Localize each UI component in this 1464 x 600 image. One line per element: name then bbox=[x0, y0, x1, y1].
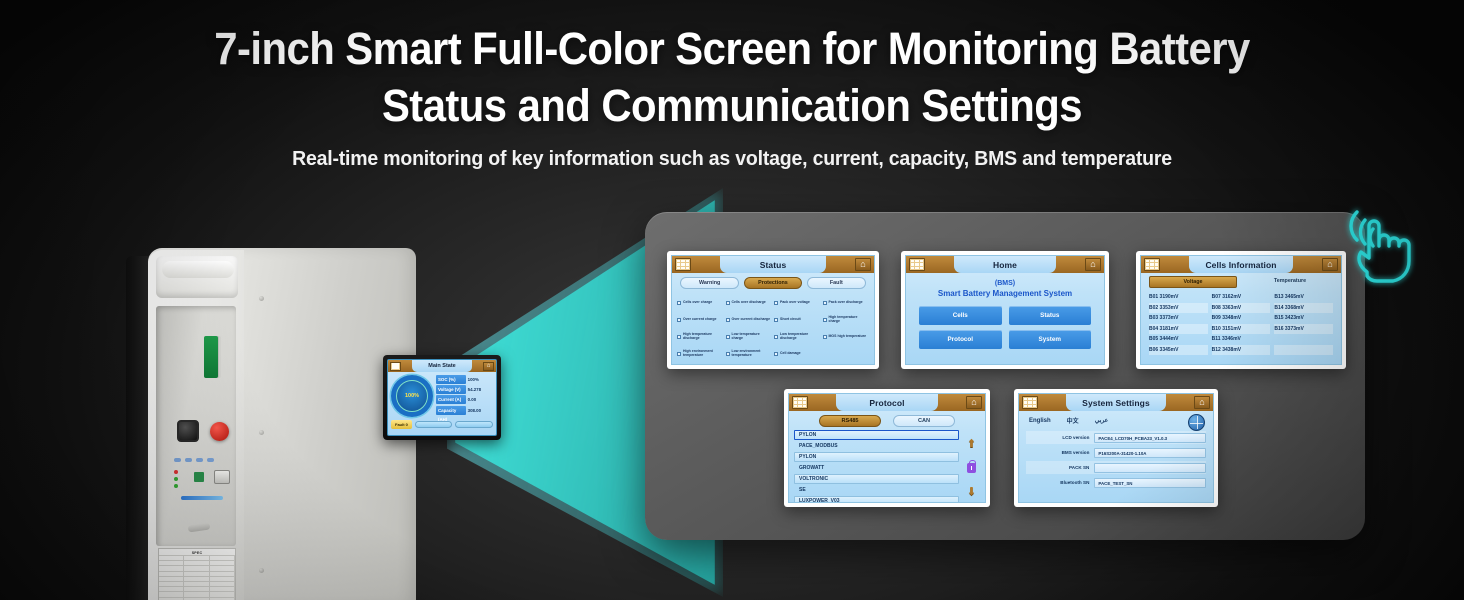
home-button-status[interactable]: Status bbox=[1009, 306, 1092, 325]
status-item: Low temperature charge bbox=[726, 329, 773, 345]
status-item-label: High temperature charge bbox=[829, 316, 870, 324]
tab-can[interactable]: CAN bbox=[893, 415, 955, 427]
status-checkbox[interactable] bbox=[726, 301, 730, 305]
home-button-system[interactable]: System bbox=[1009, 330, 1092, 349]
cell-column-1: B01 3190mV B02 3353mV B03 3373mV B04 318… bbox=[1149, 292, 1208, 355]
main-state-screen: Main State ⌂ 100% SOC (%) 100% Voltage (… bbox=[387, 359, 497, 436]
cell-value: B10 3151mV bbox=[1212, 324, 1271, 335]
status-item-label: MOS high temperature bbox=[829, 335, 867, 339]
protocol-list-item[interactable]: SE bbox=[794, 485, 959, 495]
status-item: Cell damage bbox=[774, 346, 821, 362]
home-icon[interactable]: ⌂ bbox=[966, 396, 982, 409]
status-item-label: Pack over voltage bbox=[780, 301, 810, 305]
protocol-title: Protocol bbox=[869, 398, 904, 408]
protocol-list-item[interactable]: PYLON bbox=[794, 430, 959, 440]
protocol-list-item[interactable]: LUXPOWER_V03 bbox=[794, 496, 959, 503]
status-item: Cells over charge bbox=[677, 295, 724, 311]
cells-information-screen[interactable]: Cells Information ⌂ Voltage Temperature … bbox=[1136, 251, 1346, 369]
status-checkbox[interactable] bbox=[677, 318, 681, 322]
arrow-up-icon[interactable]: ⬆ bbox=[967, 439, 976, 450]
specification-label: SPEC bbox=[158, 548, 236, 600]
protocol-list-item[interactable]: PYLON bbox=[794, 452, 959, 462]
grid-menu-icon[interactable] bbox=[792, 396, 808, 409]
info-key: BMS version bbox=[1026, 450, 1094, 455]
status-item-label: Low temperature charge bbox=[732, 333, 773, 341]
tab-rs485[interactable]: RS485 bbox=[819, 415, 881, 427]
protocol-list-item[interactable]: GROWATT bbox=[794, 463, 959, 473]
status-item-label: Over current discharge bbox=[732, 318, 771, 322]
main-state-row: Capacity (AH) 308.00 bbox=[436, 406, 493, 415]
tab-protections[interactable]: Protections bbox=[744, 277, 803, 289]
status-item-grid: Cells over charge Cells over discharge P… bbox=[672, 291, 874, 365]
cell-value-empty bbox=[1274, 345, 1333, 356]
status-checkbox[interactable] bbox=[774, 318, 778, 322]
status-screen[interactable]: Status ⌂ Warning Protections Fault Cells… bbox=[667, 251, 879, 369]
footer-pill-1[interactable] bbox=[415, 421, 453, 428]
status-item-label: Over current charge bbox=[683, 318, 716, 322]
cell-value-columns: B01 3190mV B02 3353mV B03 3373mV B04 318… bbox=[1141, 290, 1341, 357]
tab-voltage[interactable]: Voltage bbox=[1149, 276, 1237, 288]
grid-menu-icon[interactable] bbox=[1022, 396, 1038, 409]
status-item: Cells over discharge bbox=[726, 295, 773, 311]
status-checkbox[interactable] bbox=[677, 352, 681, 356]
tab-fault[interactable]: Fault bbox=[807, 277, 866, 289]
home-icon[interactable]: ⌂ bbox=[1085, 258, 1101, 271]
grid-menu-icon[interactable] bbox=[1144, 258, 1160, 271]
soc-gauge: 100% bbox=[391, 375, 433, 417]
cell-value-empty bbox=[1274, 334, 1333, 345]
rotary-switch bbox=[177, 420, 199, 442]
status-item: Pack over voltage bbox=[774, 295, 821, 311]
status-item: High environment temperature bbox=[677, 346, 724, 362]
row-value: 100% bbox=[466, 377, 493, 382]
home-subtitle-block: (BMS) Smart Battery Management System bbox=[906, 273, 1104, 298]
system-info-row: LCD version PACE4_LCD70H_PCBA23_V1.0.3 bbox=[1026, 431, 1206, 444]
home-button-protocol[interactable]: Protocol bbox=[919, 330, 1002, 349]
globe-language-icon[interactable] bbox=[1188, 414, 1205, 431]
cell-value: B05 3444mV bbox=[1149, 334, 1208, 345]
home-screen[interactable]: Home ⌂ (BMS) Smart Battery Management Sy… bbox=[901, 251, 1109, 369]
status-checkbox[interactable] bbox=[823, 301, 827, 305]
cells-topbar: Cells Information ⌂ bbox=[1141, 256, 1341, 273]
home-icon[interactable]: ⌂ bbox=[483, 362, 494, 371]
cell-value: B09 3348mV bbox=[1212, 313, 1271, 324]
status-item: MOS high temperature bbox=[823, 329, 870, 345]
language-selector: English 中文 عربي bbox=[1019, 411, 1213, 428]
status-item: Over current charge bbox=[677, 312, 724, 328]
cell-value: B02 3353mV bbox=[1149, 303, 1208, 314]
cell-value: B14 3368mV bbox=[1274, 303, 1333, 314]
info-key: Bluetooth SN bbox=[1026, 480, 1094, 485]
info-key: LCD version bbox=[1026, 435, 1094, 440]
headline-line-2: Status and Communication Settings bbox=[51, 77, 1413, 134]
status-leds bbox=[174, 470, 190, 488]
headline-line-1: 7-inch Smart Full-Color Screen for Monit… bbox=[51, 20, 1413, 77]
main-state-topbar: Main State ⌂ bbox=[388, 360, 496, 372]
info-value bbox=[1094, 463, 1206, 473]
status-item-label: High temperature discharge bbox=[683, 333, 724, 341]
cabinet-handle bbox=[156, 256, 238, 298]
rj45-port bbox=[214, 470, 230, 484]
status-item-label: High environment temperature bbox=[683, 350, 724, 358]
info-key: PACK SN bbox=[1026, 465, 1094, 470]
cell-value: B08 3363mV bbox=[1212, 303, 1271, 314]
row-key: Capacity (AH) bbox=[436, 406, 466, 415]
row-value: 308.00 bbox=[466, 408, 493, 413]
language-english[interactable]: English bbox=[1029, 418, 1051, 424]
system-info-row: PACK SN bbox=[1026, 461, 1206, 474]
row-key: Current (A) bbox=[436, 395, 466, 404]
main-state-row: Current (A) 0.00 bbox=[436, 395, 493, 404]
status-tabs: Warning Protections Fault bbox=[672, 273, 874, 291]
green-terminal-connector bbox=[204, 336, 218, 378]
info-value: P16S200A-31420-1.10A bbox=[1094, 448, 1206, 458]
page-root: 7-inch Smart Full-Color Screen for Monit… bbox=[0, 0, 1464, 600]
protocol-list: PYLON PACE_MODBUS PYLON GROWATT VOLTRONI… bbox=[794, 430, 959, 503]
cell-value: B15 3423mV bbox=[1274, 313, 1333, 324]
cabinet-lcd-display[interactable]: Main State ⌂ 100% SOC (%) 100% Voltage (… bbox=[383, 355, 501, 440]
status-checkbox[interactable] bbox=[774, 352, 778, 356]
fault-chip[interactable]: Fault 0 bbox=[391, 420, 412, 429]
protocol-topbar: Protocol ⌂ bbox=[789, 394, 985, 411]
main-state-row: Voltage (V) 54.278 bbox=[436, 385, 493, 394]
system-info-row: BMS version P16S200A-31420-1.10A bbox=[1026, 446, 1206, 459]
status-checkbox[interactable] bbox=[823, 318, 827, 322]
row-value: 0.00 bbox=[466, 397, 493, 402]
cell-column-2: B07 3162mV B08 3363mV B09 3348mV B10 315… bbox=[1212, 292, 1271, 355]
status-item: Low environment temperature bbox=[726, 346, 773, 362]
main-state-row: SOC (%) 100% bbox=[436, 375, 493, 384]
page-header: 7-inch Smart Full-Color Screen for Monit… bbox=[0, 0, 1464, 171]
tab-temperature[interactable]: Temperature bbox=[1247, 276, 1333, 288]
battery-cabinet: SPEC bbox=[126, 248, 416, 600]
tab-warning[interactable]: Warning bbox=[680, 277, 739, 289]
status-checkbox[interactable] bbox=[677, 301, 681, 305]
status-checkbox[interactable] bbox=[774, 301, 778, 305]
status-item: Short circuit bbox=[774, 312, 821, 328]
status-checkbox[interactable] bbox=[726, 318, 730, 322]
protocol-list-item[interactable]: VOLTRONIC bbox=[794, 474, 959, 484]
emergency-stop-button bbox=[210, 422, 229, 441]
info-value: PACE_TEST_SN bbox=[1094, 478, 1206, 488]
language-chinese[interactable]: 中文 bbox=[1067, 416, 1079, 425]
cells-title: Cells Information bbox=[1205, 260, 1276, 270]
cell-value: B16 3373mV bbox=[1274, 324, 1333, 335]
home-topbar: Home ⌂ bbox=[906, 256, 1104, 273]
language-arabic[interactable]: عربي bbox=[1095, 417, 1109, 424]
system-info-row: Bluetooth SN PACE_TEST_SN bbox=[1026, 476, 1206, 489]
home-subtitle-bms: (BMS) bbox=[906, 280, 1104, 287]
grid-menu-icon[interactable] bbox=[909, 258, 925, 271]
status-checkbox[interactable] bbox=[774, 335, 778, 339]
cell-value: B12 3438mV bbox=[1212, 345, 1271, 356]
status-item: High temperature discharge bbox=[677, 329, 724, 345]
status-item-label: Short circuit bbox=[780, 318, 801, 322]
home-subtitle-full: Smart Battery Management System bbox=[906, 289, 1104, 298]
status-item-label: Low environment temperature bbox=[732, 350, 773, 358]
home-button-cells[interactable]: Cells bbox=[919, 306, 1002, 325]
arrow-down-icon[interactable]: ⬇ bbox=[967, 487, 976, 498]
status-topbar: Status ⌂ bbox=[672, 256, 874, 273]
system-info-rows: LCD version PACE4_LCD70H_PCBA23_V1.0.3 B… bbox=[1019, 428, 1213, 489]
home-icon[interactable]: ⌂ bbox=[1194, 396, 1210, 409]
grid-menu-icon[interactable] bbox=[675, 258, 691, 271]
subheadline: Real-time monitoring of key information … bbox=[37, 147, 1428, 171]
cell-value: B11 3346mV bbox=[1212, 334, 1271, 345]
status-item-label: Low temperature discharge bbox=[780, 333, 821, 341]
status-item: Over current discharge bbox=[726, 312, 773, 328]
cell-value: B07 3162mV bbox=[1212, 292, 1271, 303]
footer-pill-2[interactable] bbox=[455, 421, 493, 428]
cell-column-3: B13 3465mV B14 3368mV B15 3423mV B16 337… bbox=[1274, 292, 1333, 355]
level-indicator-bar bbox=[181, 496, 223, 500]
system-settings-screen[interactable]: System Settings ⌂ English 中文 عربي LCD ve… bbox=[1014, 389, 1218, 507]
row-value: 54.278 bbox=[466, 387, 493, 392]
cell-value: B01 3190mV bbox=[1149, 292, 1208, 303]
status-item-label: Pack over discharge bbox=[829, 301, 863, 305]
status-checkbox[interactable] bbox=[823, 335, 827, 339]
protocol-list-item[interactable]: PACE_MODBUS bbox=[794, 441, 959, 451]
status-title: Status bbox=[760, 260, 787, 270]
system-topbar: System Settings ⌂ bbox=[1019, 394, 1213, 411]
cell-value: B06 3345mV bbox=[1149, 345, 1208, 356]
lock-icon[interactable] bbox=[967, 463, 976, 473]
home-button-grid: Cells Status Protocol System bbox=[906, 298, 1104, 349]
row-key: SOC (%) bbox=[436, 375, 466, 384]
row-key: Voltage (V) bbox=[436, 385, 466, 394]
status-checkbox[interactable] bbox=[726, 352, 730, 356]
cell-value: B04 3181mV bbox=[1149, 324, 1208, 335]
system-title: System Settings bbox=[1082, 398, 1150, 408]
home-title: Home bbox=[993, 260, 1017, 270]
cell-value: B03 3373mV bbox=[1149, 313, 1208, 324]
cell-value: B13 3465mV bbox=[1274, 292, 1333, 303]
status-checkbox[interactable] bbox=[726, 335, 730, 339]
touch-hand-icon bbox=[1327, 196, 1423, 288]
status-item: Low temperature discharge bbox=[774, 329, 821, 345]
status-item: Pack over discharge bbox=[823, 295, 870, 311]
status-checkbox[interactable] bbox=[677, 335, 681, 339]
cells-tabs: Voltage Temperature bbox=[1141, 273, 1341, 290]
info-value: PACE4_LCD70H_PCBA23_V1.0.3 bbox=[1094, 433, 1206, 443]
home-icon[interactable]: ⌂ bbox=[855, 258, 871, 271]
status-item: High temperature charge bbox=[823, 312, 870, 328]
soc-gauge-value: 100% bbox=[391, 375, 433, 417]
green-port bbox=[194, 472, 204, 482]
protocol-tabs: RS485 CAN bbox=[789, 411, 985, 430]
status-item-label: Cells over discharge bbox=[732, 301, 766, 305]
protocol-screen[interactable]: Protocol ⌂ RS485 CAN PYLON PACE_MODBUS P… bbox=[784, 389, 990, 507]
grid-menu-icon[interactable] bbox=[390, 362, 401, 371]
main-state-rows: SOC (%) 100% Voltage (V) 54.278 Current … bbox=[436, 375, 493, 417]
main-state-title: Main State bbox=[428, 363, 456, 369]
protocol-side-controls: ⬆ ⬇ bbox=[963, 430, 980, 503]
indicator-led-row bbox=[174, 456, 234, 464]
status-item-label: Cell damage bbox=[780, 352, 801, 356]
status-item-label: Cells over charge bbox=[683, 301, 712, 305]
